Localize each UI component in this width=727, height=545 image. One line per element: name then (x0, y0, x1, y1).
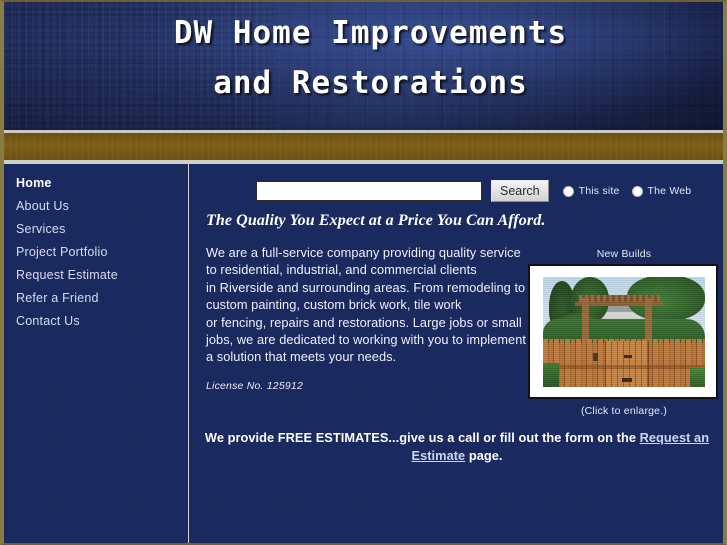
photo-caption-top: New Builds (528, 248, 720, 260)
license-number: License No. 125912 (206, 380, 547, 392)
sidebar-divider (188, 164, 189, 543)
sidebar-nav: Home About Us Services Project Portfolio… (4, 172, 187, 333)
featured-photo-block: New Builds (528, 248, 720, 417)
sidebar-item-services[interactable]: Services (4, 218, 187, 241)
site-title: DW Home Improvements and Restorations (28, 8, 713, 108)
search-scope-the-web-label: The Web (648, 185, 692, 197)
sidebar-item-home[interactable]: Home (4, 172, 187, 195)
sidebar-item-project-portfolio[interactable]: Project Portfolio (4, 241, 187, 264)
intro-paragraph: We are a full-service company providing … (206, 244, 536, 366)
free-estimates-note: We provide FREE ESTIMATES...give us a ca… (202, 429, 712, 465)
sidebar-item-about-us[interactable]: About Us (4, 195, 187, 218)
main-text-column: The Quality You Expect at a Price You Ca… (202, 212, 547, 392)
search-bar: Search This site The Web (256, 180, 703, 202)
site-banner: DW Home Improvements and Restorations (4, 2, 723, 130)
content-area: Home About Us Services Project Portfolio… (4, 164, 723, 543)
featured-photo-thumbnail[interactable] (528, 264, 718, 399)
accent-band-fill (4, 133, 723, 160)
tagline: The Quality You Expect at a Price You Ca… (206, 212, 547, 230)
page-root: DW Home Improvements and Restorations Ho… (0, 0, 727, 545)
search-scope-this-site[interactable]: This site (563, 185, 620, 197)
radio-icon[interactable] (563, 186, 574, 197)
free-estimates-text-post: page. (465, 448, 502, 463)
free-estimates-text-pre: We provide FREE ESTIMATES...give us a ca… (205, 430, 640, 445)
sidebar-item-refer-a-friend[interactable]: Refer a Friend (4, 287, 187, 310)
photo-caption-bottom: (Click to enlarge.) (528, 405, 720, 417)
fence-photo-image (543, 277, 705, 387)
search-input[interactable] (256, 181, 482, 201)
accent-band (4, 130, 723, 164)
sidebar-item-request-estimate[interactable]: Request Estimate (4, 264, 187, 287)
search-button[interactable]: Search (491, 180, 549, 202)
radio-icon[interactable] (632, 186, 643, 197)
sidebar-item-contact-us[interactable]: Contact Us (4, 310, 187, 333)
search-scope-this-site-label: This site (579, 185, 620, 197)
search-scope-group: This site The Web (563, 185, 704, 197)
search-scope-the-web[interactable]: The Web (632, 185, 692, 197)
photo-grain-overlay (543, 277, 705, 387)
